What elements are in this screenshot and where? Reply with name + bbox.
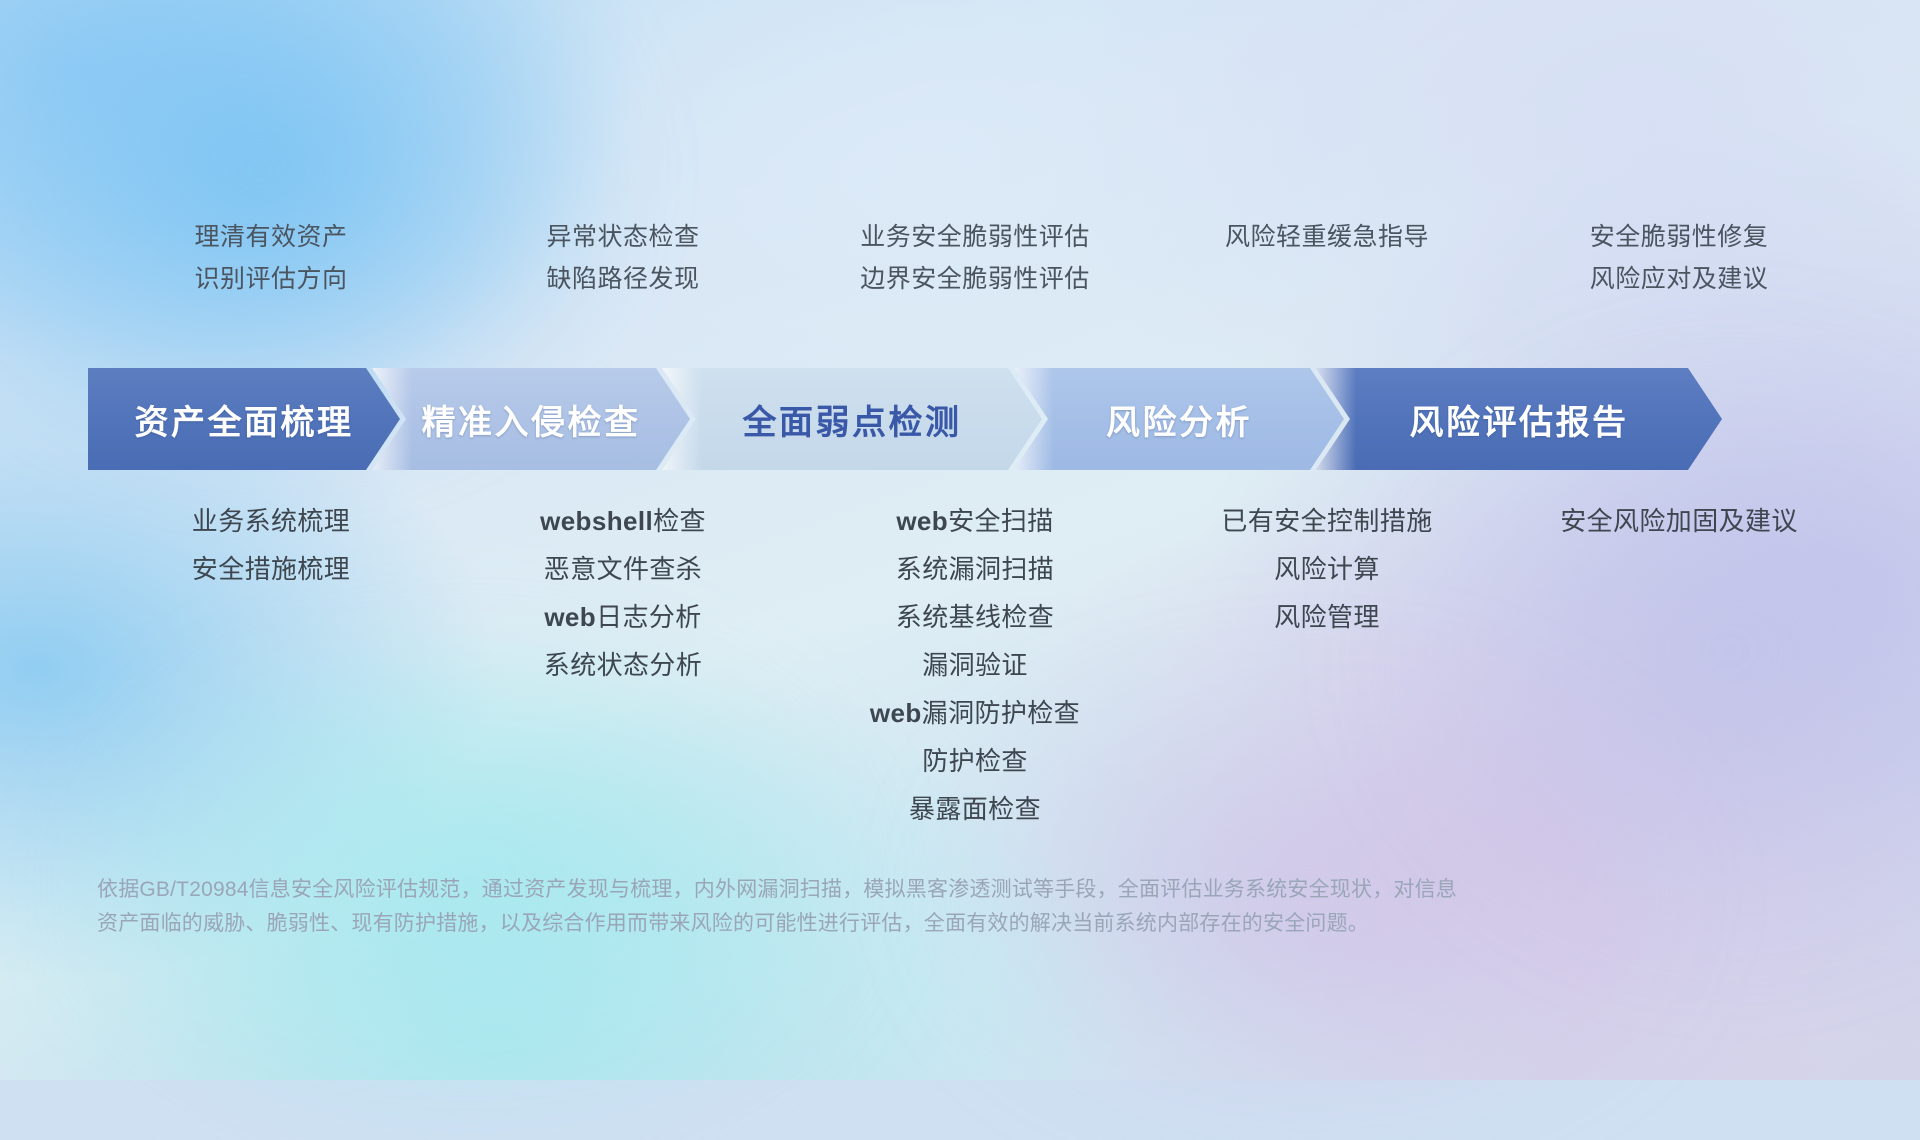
footer-description: 依据GB/T20984信息安全风险评估规范，通过资产发现与梳理，内外网漏洞扫描，… <box>97 873 1627 941</box>
bottom-list-item: web日志分析 <box>544 601 701 633</box>
top-label-text: 理清有效资产 <box>194 222 347 252</box>
stage-chevron-1-inner: 资产全面梳理 <box>88 368 400 470</box>
bottom-list-item: 已有安全控制措施 <box>1221 505 1432 537</box>
footer-line: 资产面临的威胁、脆弱性、现有防护措施，以及综合作用而带来风险的可能性进行评估，全… <box>97 907 1627 941</box>
bottom-list-item: 防护检查 <box>922 745 1028 777</box>
stage-chevron-banner: 资产全面梳理 精准入侵检查 全面弱点检测 风险分析 风险评估报告 <box>88 368 1856 470</box>
bottom-list-item: 漏洞验证 <box>922 649 1028 681</box>
bottom-list-item-keyword: web <box>544 602 596 632</box>
bottom-list-1: 业务系统梳理安全措施梳理 <box>95 505 447 585</box>
top-label-group-5: 安全脆弱性修复 风险应对及建议 <box>1503 222 1855 332</box>
stage-chevron-label: 风险分析 <box>1106 395 1252 444</box>
stage-chevron-4-inner: 风险分析 <box>1014 368 1344 470</box>
stage-chevron-5[interactable]: 风险评估报告 <box>1316 368 1722 470</box>
footer-line: 依据GB/T20984信息安全风险评估规范，通过资产发现与梳理，内外网漏洞扫描，… <box>97 873 1627 907</box>
stage-chevron-3-inner: 全面弱点检测 <box>662 368 1042 470</box>
top-label-text: 安全脆弱性修复 <box>1590 222 1769 252</box>
bottom-list-item: 系统漏洞扫描 <box>896 553 1054 585</box>
stage-chevron-label: 精准入侵检查 <box>422 395 641 444</box>
bottom-list-item: 安全措施梳理 <box>192 553 350 585</box>
top-label-group-2: 异常状态检查 缺陷路径发现 <box>447 222 799 332</box>
stage-chevron-2[interactable]: 精准入侵检查 <box>372 368 690 470</box>
top-label-text: 业务安全脆弱性评估 <box>860 222 1090 252</box>
stage-chevron-5-inner: 风险评估报告 <box>1316 368 1722 470</box>
top-label-text: 风险轻重缓急指导 <box>1225 222 1429 252</box>
bottom-list-item: web漏洞防护检查 <box>870 697 1080 729</box>
bottom-list-item: 业务系统梳理 <box>192 505 350 537</box>
top-label-text: 缺陷路径发现 <box>546 264 699 294</box>
bottom-list-item: webshell检查 <box>540 505 706 537</box>
top-label-group-4: 风险轻重缓急指导 <box>1151 222 1503 332</box>
top-label-group-3: 业务安全脆弱性评估 边界安全脆弱性评估 <box>799 222 1151 332</box>
bottom-list-item: 系统基线检查 <box>896 601 1054 633</box>
bottom-list-item: 恶意文件查杀 <box>544 553 702 585</box>
bottom-list-item: 风险计算 <box>1274 553 1380 585</box>
bottom-list-2: webshell检查恶意文件查杀web日志分析系统状态分析 <box>447 505 799 681</box>
stage-chevron-1[interactable]: 资产全面梳理 <box>88 368 400 470</box>
bottom-list-3: web安全扫描系统漏洞扫描系统基线检查漏洞验证web漏洞防护检查防护检查暴露面检… <box>799 505 1151 825</box>
top-label-group-1: 理清有效资产 识别评估方向 <box>95 222 447 332</box>
bottom-list-item: 安全风险加固及建议 <box>1560 505 1798 537</box>
bottom-list-5: 安全风险加固及建议 <box>1503 505 1855 537</box>
bottom-list-item-keyword: web <box>896 506 948 536</box>
top-label-text: 异常状态检查 <box>546 222 699 252</box>
bottom-list-row: 业务系统梳理安全措施梳理 webshell检查恶意文件查杀web日志分析系统状态… <box>95 505 1855 825</box>
bottom-list-item: 风险管理 <box>1274 601 1380 633</box>
bottom-list-item: web安全扫描 <box>896 505 1053 537</box>
bottom-list-item-keyword: web <box>870 698 922 728</box>
top-label-text: 识别评估方向 <box>194 264 347 294</box>
stage-chevron-3[interactable]: 全面弱点检测 <box>662 368 1042 470</box>
stage-chevron-label: 资产全面梳理 <box>135 395 354 444</box>
bottom-list-item-keyword: webshell <box>540 506 653 536</box>
top-label-row: 理清有效资产 识别评估方向 异常状态检查 缺陷路径发现 业务安全脆弱性评估 边界… <box>95 222 1855 332</box>
process-diagram: 理清有效资产 识别评估方向 异常状态检查 缺陷路径发现 业务安全脆弱性评估 边界… <box>0 0 1920 1080</box>
top-label-text: 风险应对及建议 <box>1590 264 1769 294</box>
bottom-list-4: 已有安全控制措施风险计算风险管理 <box>1151 505 1503 633</box>
stage-chevron-2-inner: 精准入侵检查 <box>372 368 690 470</box>
stage-chevron-label: 全面弱点检测 <box>743 395 962 444</box>
bottom-list-item: 暴露面检查 <box>909 793 1041 825</box>
top-label-text: 边界安全脆弱性评估 <box>860 264 1090 294</box>
stage-chevron-4[interactable]: 风险分析 <box>1014 368 1344 470</box>
bottom-list-item: 系统状态分析 <box>544 649 702 681</box>
stage-chevron-label: 风险评估报告 <box>1410 395 1629 444</box>
